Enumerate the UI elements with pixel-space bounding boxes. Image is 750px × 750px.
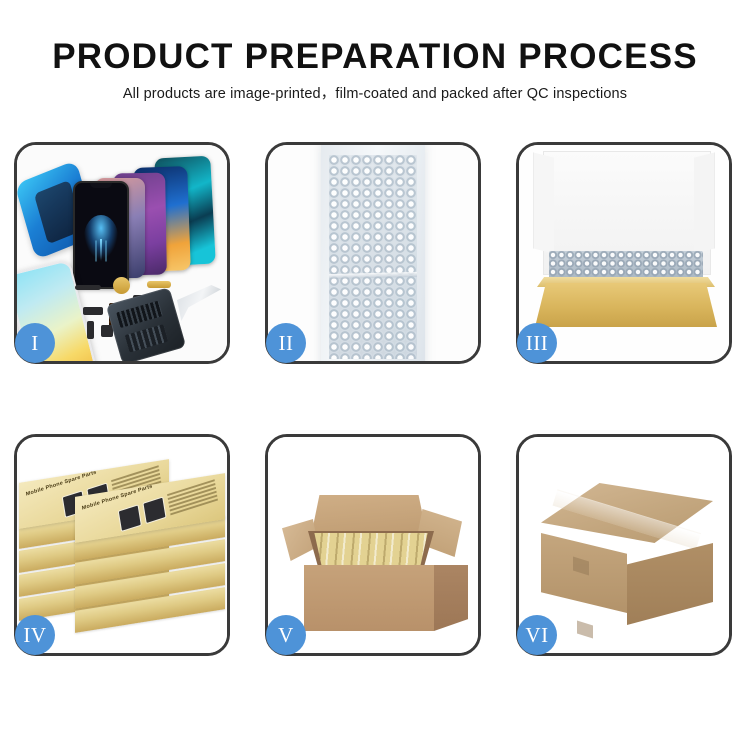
step-badge-3: III xyxy=(517,323,557,363)
bubble-cells xyxy=(329,155,417,359)
phone-notch xyxy=(90,183,112,188)
bubble-wrapped-item xyxy=(549,251,703,281)
process-step-panel-3[interactable]: III xyxy=(516,142,732,364)
button-flex-part xyxy=(87,321,94,339)
speaker-mesh-part xyxy=(75,285,101,290)
step-badge-4: IV xyxy=(15,615,55,655)
step-badge-1: I xyxy=(15,323,55,363)
process-step-panel-2[interactable]: II xyxy=(265,142,481,364)
process-step-panel-6[interactable]: VI xyxy=(516,434,732,656)
phone-display-1 xyxy=(73,181,129,289)
carton-side-face xyxy=(434,565,468,631)
flex-cable-part-1 xyxy=(147,281,171,288)
process-step-panel-5[interactable]: V xyxy=(265,434,481,656)
box-lid-flap-left xyxy=(533,152,554,253)
vibrator-motor-part xyxy=(113,277,130,294)
step-badge-5: V xyxy=(266,615,306,655)
box-print-screens xyxy=(118,496,167,530)
page-subtitle: All products are image-printed，film-coat… xyxy=(0,85,750,103)
box-lid-flap-right xyxy=(694,152,715,253)
jellyfish-wallpaper xyxy=(84,215,118,259)
step-badge-2: II xyxy=(266,323,306,363)
carton-front-face xyxy=(304,565,434,631)
page-header: PRODUCT PREPARATION PROCESS All products… xyxy=(0,0,750,103)
step-badge-6: VI xyxy=(517,615,557,655)
carton-right-face xyxy=(627,543,713,625)
process-step-grid: I II III xyxy=(14,142,736,656)
box-body xyxy=(535,283,717,327)
connector-part xyxy=(83,307,103,315)
process-step-panel-1[interactable]: I xyxy=(14,142,230,364)
carton-handle-cutout-bottom xyxy=(577,621,593,639)
page-title: PRODUCT PREPARATION PROCESS xyxy=(0,36,750,78)
box-print-spec-lines xyxy=(167,479,219,521)
process-step-panel-4[interactable]: Mobile Phone Spare Parts Mobile Phone Sp… xyxy=(14,434,230,656)
bubble-wrap-bag xyxy=(321,145,425,361)
carton-contents-shading xyxy=(312,533,430,565)
